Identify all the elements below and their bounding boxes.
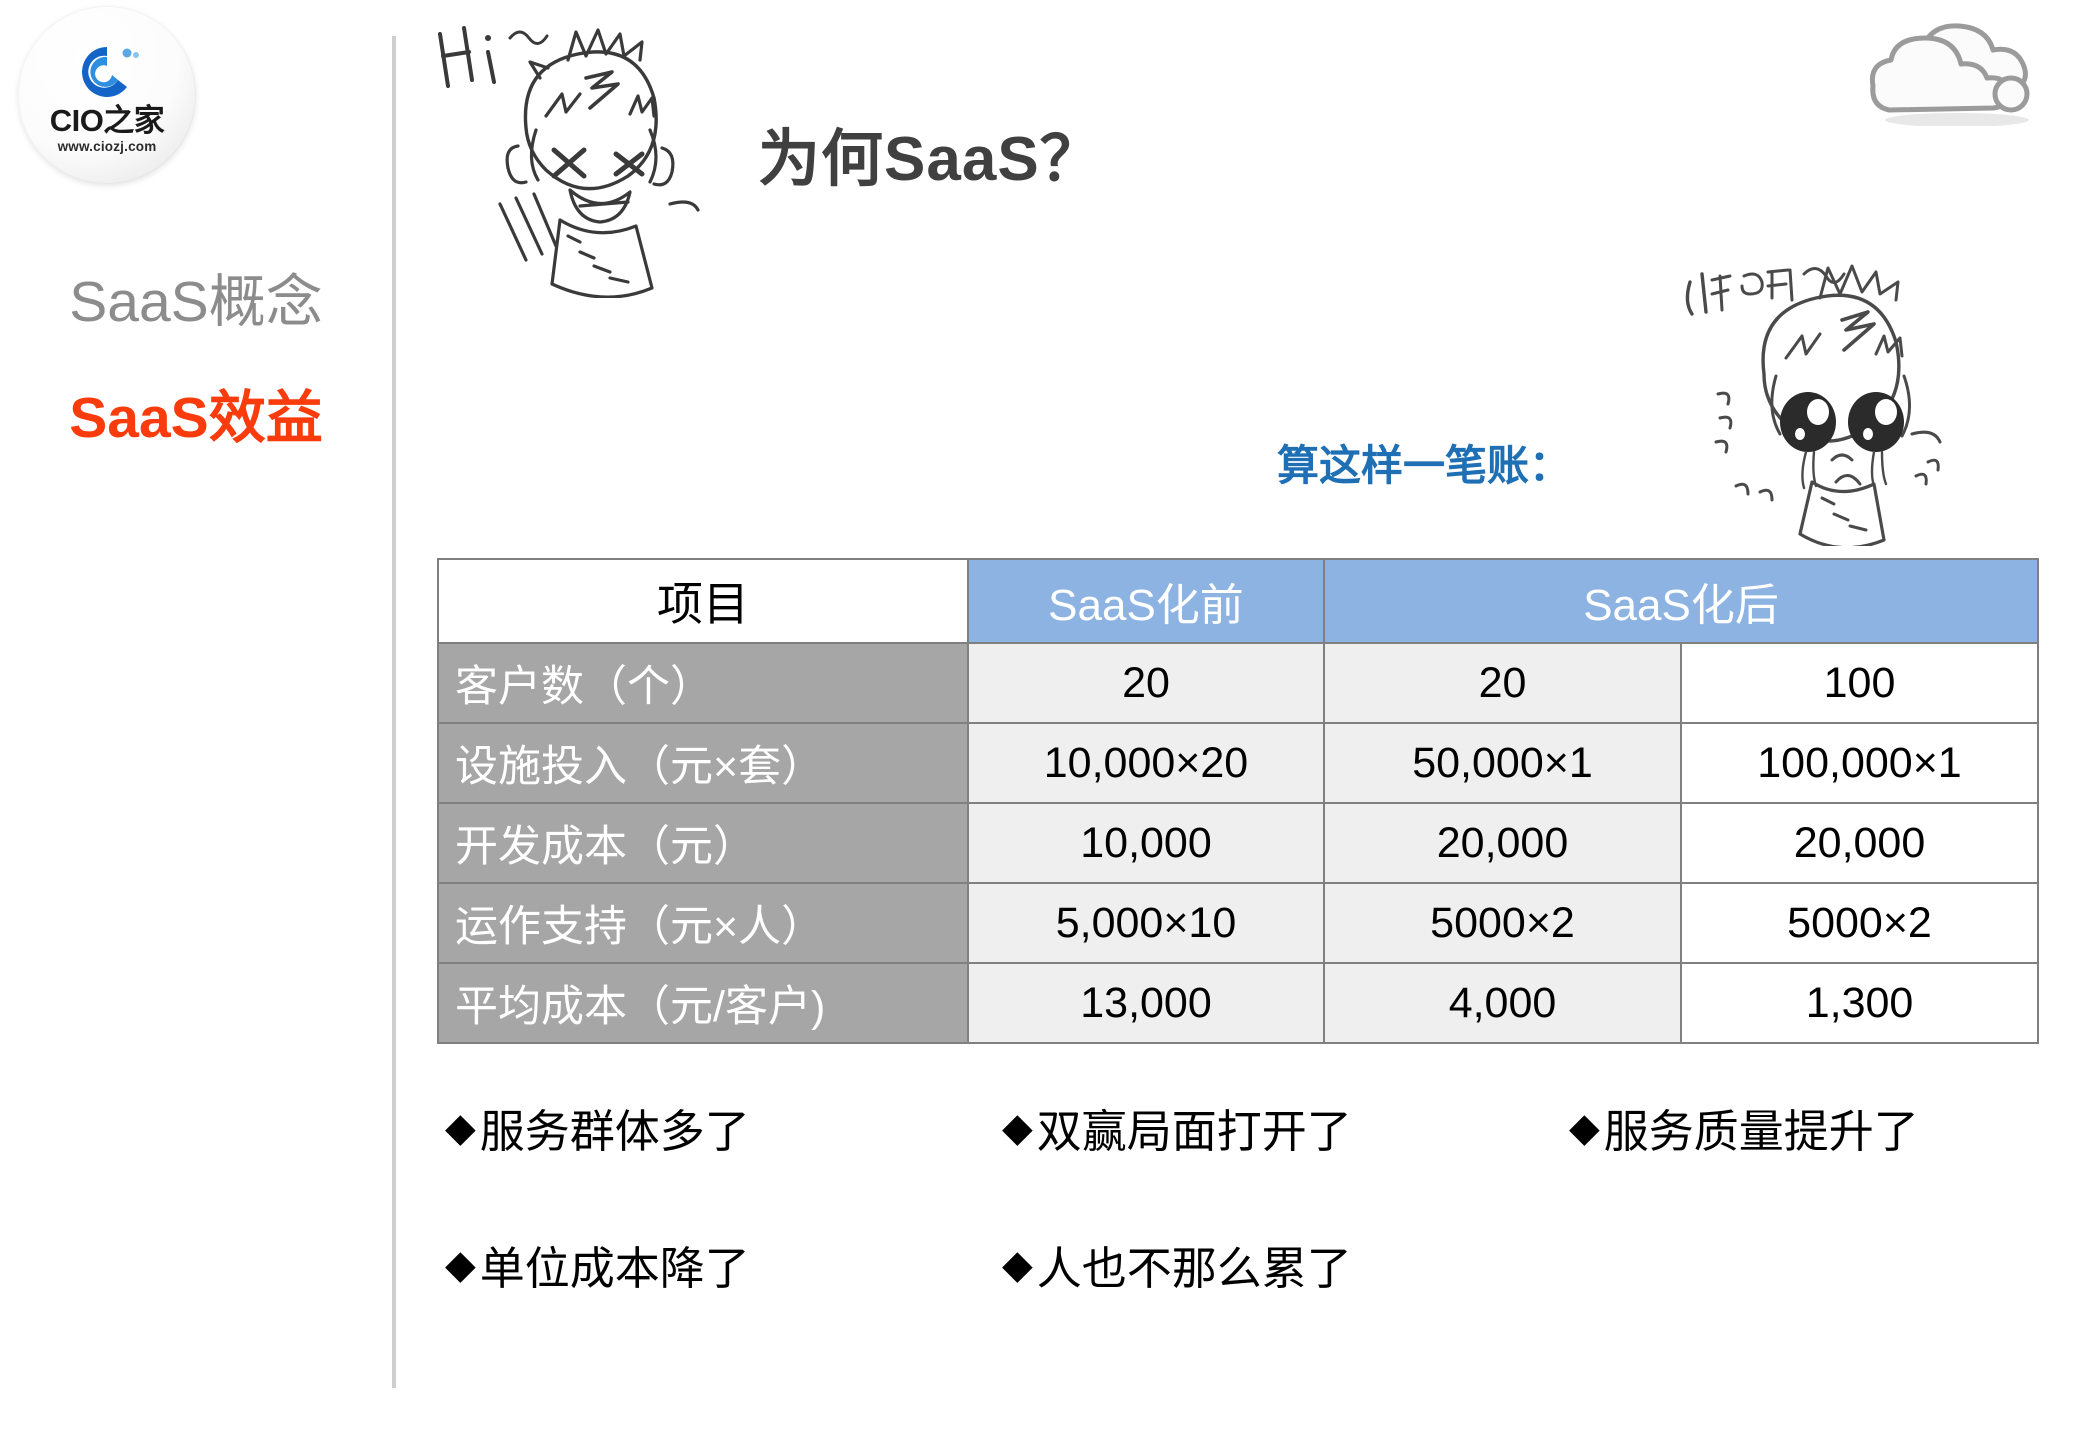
cell-value: 4,000 <box>1324 963 1681 1043</box>
vertical-divider <box>392 36 396 1388</box>
bullet-item: ◆ 服务质量提升了 <box>1527 1095 2047 1160</box>
bullet-item: ◆ 单位成本降了 <box>437 1232 982 1297</box>
cell-value: 13,000 <box>968 963 1324 1043</box>
slide-canvas: CIO之家 www.ciozj.com SaaS概念 SaaS效益 <box>0 0 2079 1439</box>
cloud-icon <box>1845 16 2070 126</box>
cell-value: 5000×2 <box>1681 883 2038 963</box>
row-label: 设施投入（元×套） <box>438 723 968 803</box>
cell-value: 20 <box>1324 643 1681 723</box>
table-row: 平均成本（元/客户) 13,000 4,000 1,300 <box>438 963 2038 1043</box>
diamond-bullet-icon: ◆ <box>1002 1108 1033 1148</box>
doodle-teary-character-icon <box>1672 246 1962 546</box>
bullet-label: 单位成本降了 <box>480 1232 750 1297</box>
table-row: 开发成本（元） 10,000 20,000 20,000 <box>438 803 2038 883</box>
table-header-row: 项目 SaaS化前 SaaS化后 <box>438 559 2038 643</box>
row-label: 客户数（个） <box>438 643 968 723</box>
diamond-bullet-icon: ◆ <box>445 1245 476 1285</box>
cell-value: 5,000×10 <box>968 883 1324 963</box>
doodle-grinning-character-icon <box>418 8 728 298</box>
cell-value: 1,300 <box>1681 963 2038 1043</box>
column-header-before-saas: SaaS化前 <box>968 559 1324 643</box>
logo-badge: CIO之家 www.ciozj.com <box>18 6 196 184</box>
column-header-after-saas: SaaS化后 <box>1324 559 2038 643</box>
cell-value: 100,000×1 <box>1681 723 2038 803</box>
bullet-label: 双赢局面打开了 <box>1037 1095 1352 1160</box>
cell-value: 20,000 <box>1681 803 2038 883</box>
cell-value: 5000×2 <box>1324 883 1681 963</box>
cell-value: 10,000 <box>968 803 1324 883</box>
page-title: 为何SaaS？ <box>758 108 1103 198</box>
bullet-label: 人也不那么累了 <box>1037 1232 1352 1297</box>
sidebar-item-saas-concept[interactable]: SaaS概念 <box>0 270 392 336</box>
bullet-item: ◆ 人也不那么累了 <box>982 1232 1527 1297</box>
bullet-label: 服务质量提升了 <box>1604 1095 1919 1160</box>
bullet-item: ◆ 双赢局面打开了 <box>982 1095 1527 1160</box>
row-label: 运作支持（元×人） <box>438 883 968 963</box>
diamond-bullet-icon: ◆ <box>445 1108 476 1148</box>
diamond-bullet-icon: ◆ <box>1002 1245 1033 1285</box>
row-label: 开发成本（元） <box>438 803 968 883</box>
sidebar-item-label: SaaS概念 <box>69 270 322 334</box>
c-circle-icon <box>65 41 149 103</box>
lead-in-text: 算这样一笔账： <box>1277 432 1571 493</box>
logo-url: www.ciozj.com <box>58 140 157 154</box>
table-row: 客户数（个） 20 20 100 <box>438 643 2038 723</box>
table-row: 运作支持（元×人） 5,000×10 5000×2 5000×2 <box>438 883 2038 963</box>
table-body: 客户数（个） 20 20 100 设施投入（元×套） 10,000×20 50,… <box>438 643 2038 1043</box>
cell-value: 50,000×1 <box>1324 723 1681 803</box>
cell-value: 20,000 <box>1324 803 1681 883</box>
logo-title: CIO之家 <box>50 105 165 136</box>
bullet-label: 服务群体多了 <box>480 1095 750 1160</box>
cell-value: 100 <box>1681 643 2038 723</box>
bullet-row: ◆ 服务群体多了 ◆ 双赢局面打开了 ◆ 服务质量提升了 <box>437 1095 2047 1160</box>
column-header-item: 项目 <box>438 559 968 643</box>
sidebar: SaaS概念 SaaS效益 <box>0 270 392 451</box>
benefits-bullet-list: ◆ 服务群体多了 ◆ 双赢局面打开了 ◆ 服务质量提升了 ◆ 单位成本降了 ◆ … <box>437 1095 2047 1369</box>
cell-value: 10,000×20 <box>968 723 1324 803</box>
sidebar-item-saas-benefit[interactable]: SaaS效益 <box>0 386 392 452</box>
bullet-item: ◆ 服务群体多了 <box>437 1095 982 1160</box>
bullet-row: ◆ 单位成本降了 ◆ 人也不那么累了 <box>437 1232 2047 1297</box>
cost-comparison-table: 项目 SaaS化前 SaaS化后 客户数（个） 20 20 100 设施投入（元… <box>437 558 2039 1044</box>
row-label: 平均成本（元/客户) <box>438 963 968 1043</box>
diamond-bullet-icon: ◆ <box>1569 1108 1600 1148</box>
cell-value: 20 <box>968 643 1324 723</box>
sidebar-item-label: SaaS效益 <box>69 386 322 450</box>
table-row: 设施投入（元×套） 10,000×20 50,000×1 100,000×1 <box>438 723 2038 803</box>
